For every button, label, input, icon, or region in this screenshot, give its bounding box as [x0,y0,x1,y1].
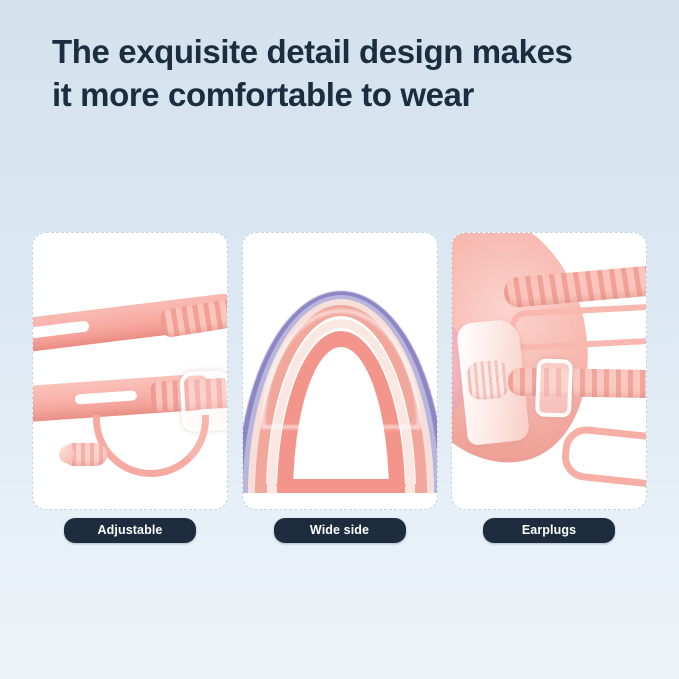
feature-card [242,232,438,510]
goggle-strap-middle [508,368,646,399]
panel-badge-earplugs: Earplugs [483,518,615,543]
feature-panel-earplugs[interactable]: Earplugs [451,232,647,510]
goggle-strap-bottom-loop [560,424,646,492]
earplug-tip [59,446,74,463]
product-photo-adjustable [33,233,227,509]
feature-panel-row: Adjustable Wide side [32,232,647,510]
earplug-tether [93,415,209,477]
photo-bottom-mask [243,493,437,509]
product-photo-earplugs [452,233,646,509]
feature-card [451,232,647,510]
feature-card [32,232,228,510]
product-photo-wide-side [243,233,437,509]
panel-badge-adjustable: Adjustable [64,518,196,543]
goggle-strap-top-loop [509,303,646,351]
feature-panel-wide-side[interactable]: Wide side [242,232,438,510]
panel-badge-wide-side: Wide side [274,518,406,543]
goggle-hinge-tab [466,359,509,400]
page-title: The exquisite detail design makes it mor… [52,31,652,116]
feature-panel-adjustable[interactable]: Adjustable [32,232,228,510]
product-detail-banner: The exquisite detail design makes it mor… [0,0,679,679]
strap-buckle-clip [535,358,573,417]
